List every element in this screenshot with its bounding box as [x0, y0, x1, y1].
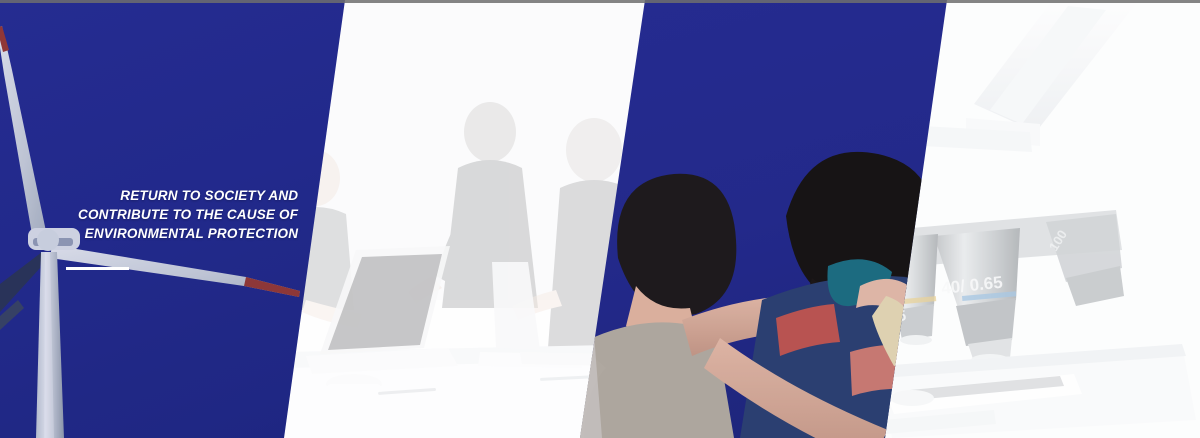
top-edge-strip: [0, 0, 1200, 3]
responsibility-banner: RETURN TO SOCIETY AND CONTRIBUTE TO THE …: [0, 0, 1200, 438]
accent-bar-social-responsibility: [66, 267, 129, 270]
